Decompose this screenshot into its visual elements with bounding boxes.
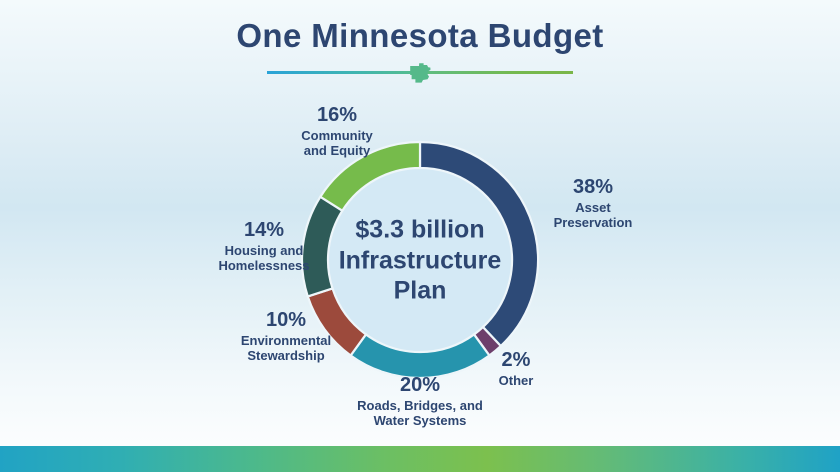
slice-caption-line-1: Community [262, 128, 412, 143]
slice-label-environmental-stewardship: 10% Environmental Stewardship [196, 309, 376, 363]
slice-caption-line-2: Stewardship [196, 348, 376, 363]
slice-caption-line-2: Preservation [518, 215, 668, 230]
title-divider [267, 62, 573, 84]
slice-percent: 20% [330, 374, 510, 397]
center-line-1: $3.3 billion [330, 214, 510, 245]
infographic-slide: One Minnesota Budget $3.3 billion Infras… [0, 0, 840, 472]
slice-caption-line-1: Housing and [184, 243, 344, 258]
page-title: One Minnesota Budget [0, 18, 840, 54]
slice-label-asset-preservation: 38% Asset Preservation [518, 176, 668, 230]
slice-percent: 38% [518, 176, 668, 199]
slice-caption-line-1: Environmental [196, 333, 376, 348]
slice-caption-line-2: Homelessness [184, 258, 344, 273]
donut-center-label: $3.3 billion Infrastructure Plan [330, 214, 510, 306]
title-block: One Minnesota Budget [0, 18, 840, 84]
slice-caption-line-1: Roads, Bridges, and [330, 398, 510, 413]
footer-gradient-bar [0, 446, 840, 472]
slice-label-roads-bridges-water: 20% Roads, Bridges, and Water Systems [330, 374, 510, 428]
slice-percent: 16% [262, 104, 412, 127]
slice-percent: 10% [196, 309, 376, 332]
center-line-3: Plan [330, 275, 510, 306]
center-line-2: Infrastructure [330, 245, 510, 276]
slice-caption-line-2: Water Systems [330, 413, 510, 428]
divider-left-segment [267, 71, 415, 74]
slice-label-community-and-equity: 16% Community and Equity [262, 104, 412, 158]
divider-right-segment [425, 71, 573, 74]
slice-label-housing-and-homelessness: 14% Housing and Homelessness [184, 219, 344, 273]
slice-percent: 2% [446, 349, 586, 372]
slice-caption-line-2: and Equity [262, 143, 412, 158]
minnesota-state-icon [407, 62, 433, 84]
slice-percent: 14% [184, 219, 344, 242]
slice-caption-line-1: Asset [518, 200, 668, 215]
